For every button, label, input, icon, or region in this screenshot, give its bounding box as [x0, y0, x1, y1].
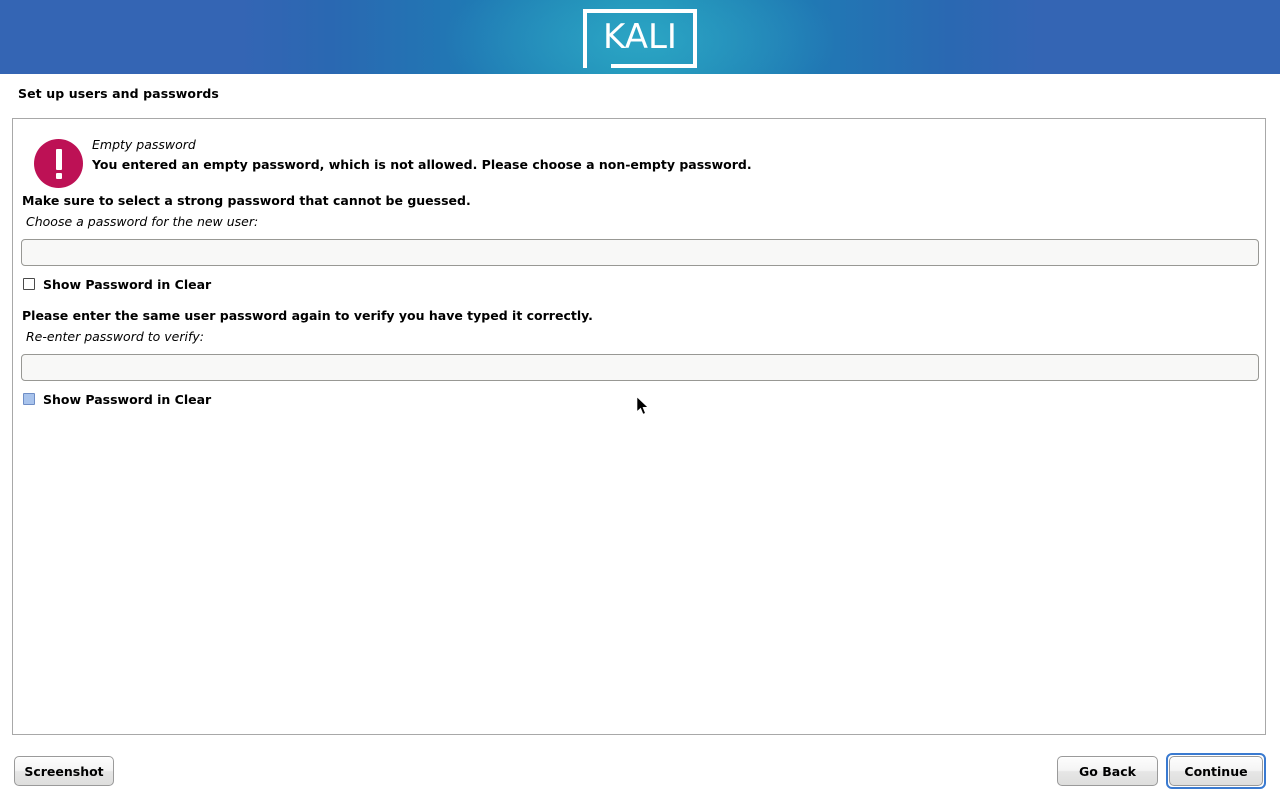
- show-password-in-clear-row-1[interactable]: Show Password in Clear: [23, 276, 211, 292]
- error-message: You entered an empty password, which is …: [92, 157, 752, 172]
- error-block: Empty password You entered an empty pass…: [22, 129, 1252, 189]
- continue-button[interactable]: Continue: [1169, 756, 1263, 786]
- error-exclamation-icon: [34, 139, 83, 188]
- show-password-in-clear-checkbox-1[interactable]: [23, 278, 35, 290]
- show-password-in-clear-row-2[interactable]: Show Password in Clear: [23, 391, 211, 407]
- verify-section-heading: Please enter the same user password agai…: [22, 308, 593, 323]
- error-title: Empty password: [92, 137, 196, 152]
- page-title: Set up users and passwords: [18, 86, 219, 101]
- password-field-label: Choose a password for the new user:: [26, 214, 258, 229]
- kali-logo-frame-bottom: [611, 64, 697, 68]
- verify-password-input[interactable]: [21, 354, 1259, 381]
- exclamation-stem: [56, 149, 62, 170]
- password-section-heading: Make sure to select a strong password th…: [22, 193, 471, 208]
- screenshot-button[interactable]: Screenshot: [14, 756, 114, 786]
- main-content-panel: Empty password You entered an empty pass…: [12, 118, 1266, 735]
- show-password-in-clear-label-2: Show Password in Clear: [43, 392, 211, 407]
- show-password-in-clear-label-1: Show Password in Clear: [43, 277, 211, 292]
- kali-logo-text: KALI: [583, 9, 697, 64]
- installer-header-banner: KALI: [0, 0, 1280, 74]
- password-input[interactable]: [21, 239, 1259, 266]
- go-back-button[interactable]: Go Back: [1057, 756, 1158, 786]
- verify-field-label: Re-enter password to verify:: [26, 329, 204, 344]
- kali-logo: KALI: [583, 9, 697, 68]
- exclamation-dot: [56, 173, 62, 179]
- show-password-in-clear-checkbox-2[interactable]: [23, 393, 35, 405]
